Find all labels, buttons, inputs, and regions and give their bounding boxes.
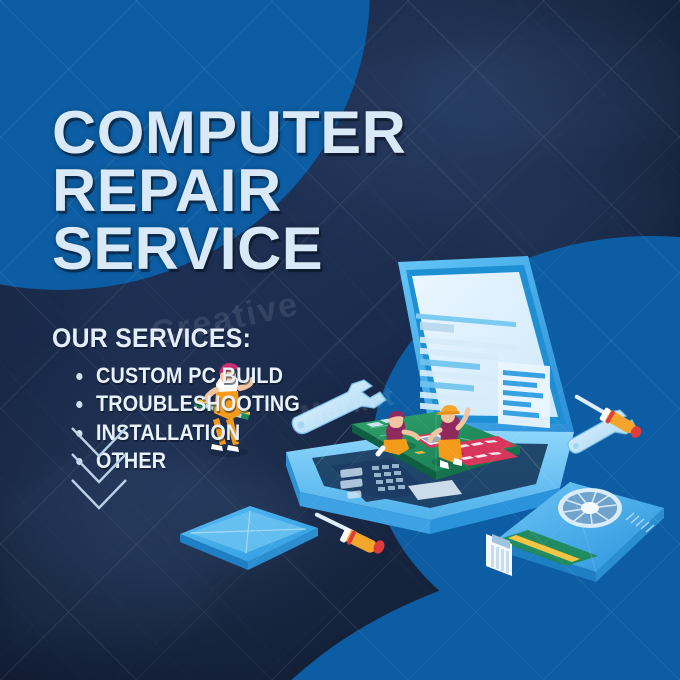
- chevron-arrow-group: [68, 424, 130, 502]
- bullet-icon: [76, 373, 82, 380]
- list-item: CUSTOM PC BUILD: [96, 362, 578, 391]
- services-list: CUSTOM PC BUILD TROUBLESHOOTING INSTALLA…: [52, 362, 632, 476]
- title-line-1: COMPUTER REPAIR: [52, 104, 644, 220]
- list-item: OTHER: [96, 447, 578, 476]
- poster-canvas: COMPUTER REPAIR SERVICE OUR SERVICES: CU…: [0, 0, 680, 680]
- services-heading: OUR SERVICES:: [52, 323, 586, 354]
- bullet-icon: [76, 401, 82, 408]
- title-line-2: SERVICE: [52, 220, 644, 278]
- list-item-label: TROUBLESHOOTING: [96, 391, 300, 416]
- list-item-label: CUSTOM PC BUILD: [96, 363, 283, 388]
- smartphone: [180, 506, 318, 570]
- gpu-fan: [558, 488, 622, 528]
- copy-block: COMPUTER REPAIR SERVICE OUR SERVICES: CU…: [52, 104, 632, 476]
- list-item: INSTALLATION: [96, 419, 578, 448]
- gpu-bracket: [486, 534, 512, 576]
- page-title: COMPUTER REPAIR SERVICE: [52, 104, 644, 279]
- list-item: TROUBLESHOOTING: [96, 390, 578, 419]
